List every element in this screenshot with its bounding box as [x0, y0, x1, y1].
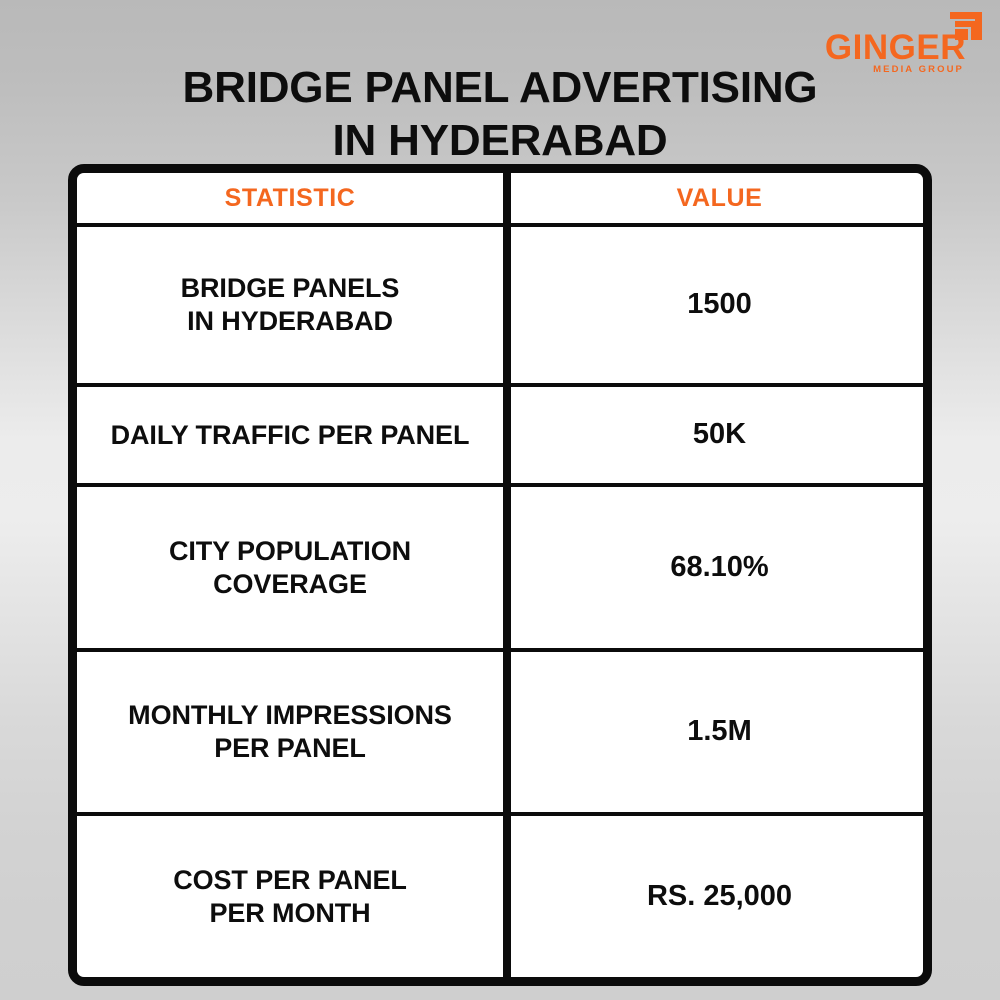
cell-value: RS. 25,000: [507, 812, 928, 977]
table-row: DAILY TRAFFIC PER PANEL 50K: [77, 383, 928, 483]
cell-value: 1500: [507, 227, 928, 383]
brand-wordmark: GINGER: [825, 30, 966, 65]
statistics-table-container: STATISTIC VALUE BRIDGE PANELS IN HYDERAB…: [68, 164, 932, 986]
cell-statistic-line-1: DAILY TRAFFIC PER PANEL: [87, 419, 493, 452]
cell-statistic-line-1: CITY POPULATION: [87, 535, 493, 568]
column-header-value: VALUE: [507, 173, 928, 227]
cell-statistic: CITY POPULATION COVERAGE: [77, 483, 507, 648]
cell-value: 68.10%: [507, 483, 928, 648]
statistics-table: STATISTIC VALUE BRIDGE PANELS IN HYDERAB…: [77, 173, 928, 977]
cell-statistic: MONTHLY IMPRESSIONS PER PANEL: [77, 648, 507, 813]
cell-statistic-line-1: MONTHLY IMPRESSIONS: [87, 699, 493, 732]
page-title-line-1: BRIDGE PANEL ADVERTISING: [0, 63, 1000, 114]
infographic-poster: GINGER MEDIA GROUP BRIDGE PANEL ADVERTIS…: [0, 0, 1000, 1000]
page-title: BRIDGE PANEL ADVERTISING IN HYDERABAD: [0, 63, 1000, 166]
cell-statistic-line-2: IN HYDERABAD: [87, 305, 493, 338]
cell-value: 1.5M: [507, 648, 928, 813]
table-row: BRIDGE PANELS IN HYDERABAD 1500: [77, 227, 928, 383]
table-row: MONTHLY IMPRESSIONS PER PANEL 1.5M: [77, 648, 928, 813]
page-title-line-2: IN HYDERABAD: [0, 116, 1000, 167]
cell-statistic-line-2: PER PANEL: [87, 732, 493, 765]
cell-statistic: COST PER PANEL PER MONTH: [77, 812, 507, 977]
cell-statistic-line-1: BRIDGE PANELS: [87, 272, 493, 305]
cell-statistic: DAILY TRAFFIC PER PANEL: [77, 383, 507, 483]
cell-statistic-line-1: COST PER PANEL: [87, 864, 493, 897]
table-row: COST PER PANEL PER MONTH RS. 25,000: [77, 812, 928, 977]
table-row: CITY POPULATION COVERAGE 68.10%: [77, 483, 928, 648]
cell-value: 50K: [507, 383, 928, 483]
table-header-row: STATISTIC VALUE: [77, 173, 928, 227]
cell-statistic-line-2: COVERAGE: [87, 568, 493, 601]
column-header-statistic: STATISTIC: [77, 173, 507, 227]
cell-statistic-line-2: PER MONTH: [87, 897, 493, 930]
cell-statistic: BRIDGE PANELS IN HYDERABAD: [77, 227, 507, 383]
